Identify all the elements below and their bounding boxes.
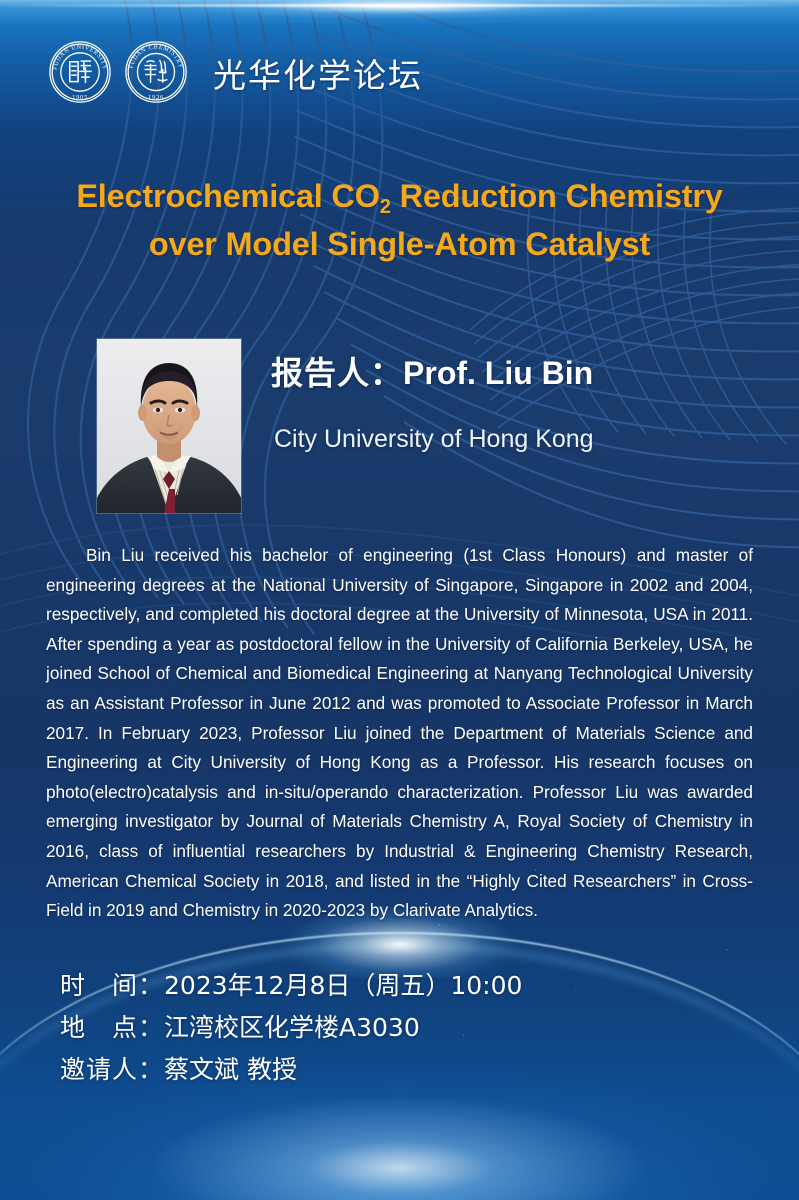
poster-canvas: FUDAN UNIVERSITY 1905 xyxy=(0,0,799,1200)
title-line-2: over Model Single-Atom Catalyst xyxy=(34,220,765,268)
svg-text:1926: 1926 xyxy=(148,94,164,101)
event-host-label: 邀请人： xyxy=(60,1049,164,1091)
speaker-affiliation: City University of Hong Kong xyxy=(274,423,594,455)
event-location-label: 地 点： xyxy=(60,1007,164,1049)
svg-text:1905: 1905 xyxy=(72,94,88,101)
speaker-biography: Bin Liu received his bachelor of enginee… xyxy=(46,541,753,926)
title-line-1-part-2: Reduction Chemistry xyxy=(391,178,723,214)
speaker-name: Prof. Liu Bin xyxy=(403,355,593,391)
event-time-value: 2023年12月8日（周五）10:00 xyxy=(164,965,522,1007)
fudan-chemistry-seal-icon: FUDAN CHEMISTRY 1926 xyxy=(124,40,188,104)
speaker-name-line: 报告人：Prof. Liu Bin xyxy=(271,353,593,393)
logo-group: FUDAN UNIVERSITY 1905 xyxy=(48,40,188,104)
event-host-value: 蔡文斌 教授 xyxy=(164,1049,297,1091)
title-subscript-2: 2 xyxy=(380,196,391,218)
title-line-1-part-1: Electrochemical CO xyxy=(76,178,379,214)
event-host-row: 邀请人： 蔡文斌 教授 xyxy=(60,1049,700,1091)
event-details: 时 间： 2023年12月8日（周五）10:00 地 点： 江湾校区化学楼A30… xyxy=(60,965,700,1091)
forum-name: 光华化学论坛 xyxy=(213,56,423,96)
page-title: Electrochemical CO2 Reduction Chemistry … xyxy=(34,172,765,268)
title-line-1: Electrochemical CO2 Reduction Chemistry xyxy=(76,178,722,214)
event-location-value: 江湾校区化学楼A3030 xyxy=(164,1007,420,1049)
speaker-block: 报告人：Prof. Liu Bin City University of Hon… xyxy=(0,339,799,515)
speaker-label: 报告人： xyxy=(271,354,403,392)
event-time-label: 时 间： xyxy=(60,965,164,1007)
poster-header: FUDAN UNIVERSITY 1905 xyxy=(0,0,799,140)
event-time-row: 时 间： 2023年12月8日（周五）10:00 xyxy=(60,965,700,1007)
speaker-photo xyxy=(97,339,241,513)
fudan-university-seal-icon: FUDAN UNIVERSITY 1905 xyxy=(48,40,112,104)
event-location-row: 地 点： 江湾校区化学楼A3030 xyxy=(60,1007,700,1049)
